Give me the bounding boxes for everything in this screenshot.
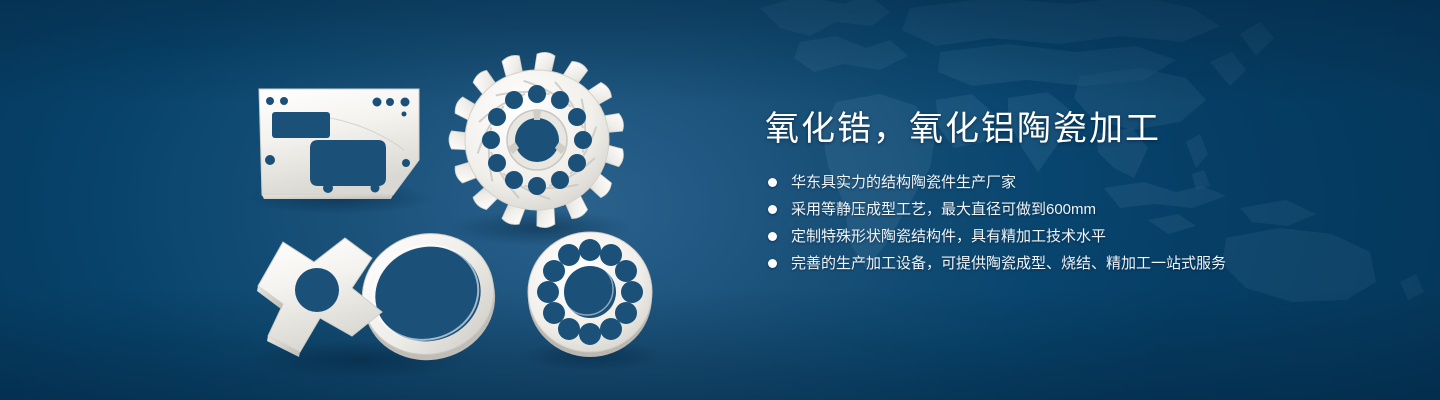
- bullet-dot-icon: [768, 205, 777, 214]
- bullet-dot-icon: [768, 232, 777, 241]
- page-title: 氧化锆，氧化铝陶瓷加工: [765, 108, 1385, 150]
- ceramic-impeller-disc: [448, 52, 626, 229]
- banner-copy: 氧化锆，氧化铝陶瓷加工 华东具实力的结构陶瓷件生产厂家 采用等静压成型工艺，最大…: [765, 108, 1385, 280]
- list-item-label: 华东具实力的结构陶瓷件生产厂家: [791, 174, 1016, 191]
- list-item: 定制特殊形状陶瓷结构件，具有精加工技术水平: [765, 226, 1385, 247]
- list-item: 完善的生产加工设备，可提供陶瓷成型、烧结、精加工一站式服务: [765, 253, 1385, 274]
- ceramic-cross-part: [257, 238, 382, 357]
- bullet-dot-icon: [768, 259, 777, 268]
- hero-banner: 氧化锆，氧化铝陶瓷加工 华东具实力的结构陶瓷件生产厂家 采用等静压成型工艺，最大…: [0, 0, 1440, 400]
- list-item-label: 定制特殊形状陶瓷结构件，具有精加工技术水平: [791, 228, 1106, 245]
- list-item-label: 采用等静压成型工艺，最大直径可做到600mm: [791, 201, 1096, 218]
- ceramic-machined-plate: [259, 89, 419, 199]
- list-item: 华东具实力的结构陶瓷件生产厂家: [765, 172, 1385, 193]
- ceramic-perforated-disc: [528, 232, 652, 357]
- bullet-dot-icon: [768, 178, 777, 187]
- list-item-label: 完善的生产加工设备，可提供陶瓷成型、烧结、精加工一站式服务: [791, 255, 1226, 272]
- feature-list: 华东具实力的结构陶瓷件生产厂家 采用等静压成型工艺，最大直径可做到600mm 定…: [765, 172, 1385, 274]
- ceramic-products-image: [0, 0, 740, 400]
- list-item: 采用等静压成型工艺，最大直径可做到600mm: [765, 199, 1385, 220]
